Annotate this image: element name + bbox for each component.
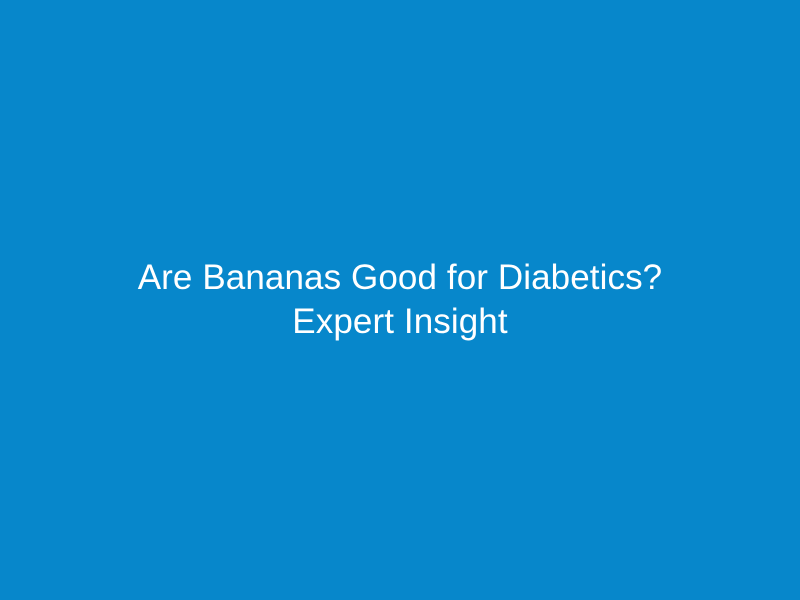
title-block: Are Bananas Good for Diabetics? Expert I… xyxy=(100,256,700,344)
page-title: Are Bananas Good for Diabetics? Expert I… xyxy=(108,256,692,344)
share-card-canvas: Are Bananas Good for Diabetics? Expert I… xyxy=(0,0,800,600)
